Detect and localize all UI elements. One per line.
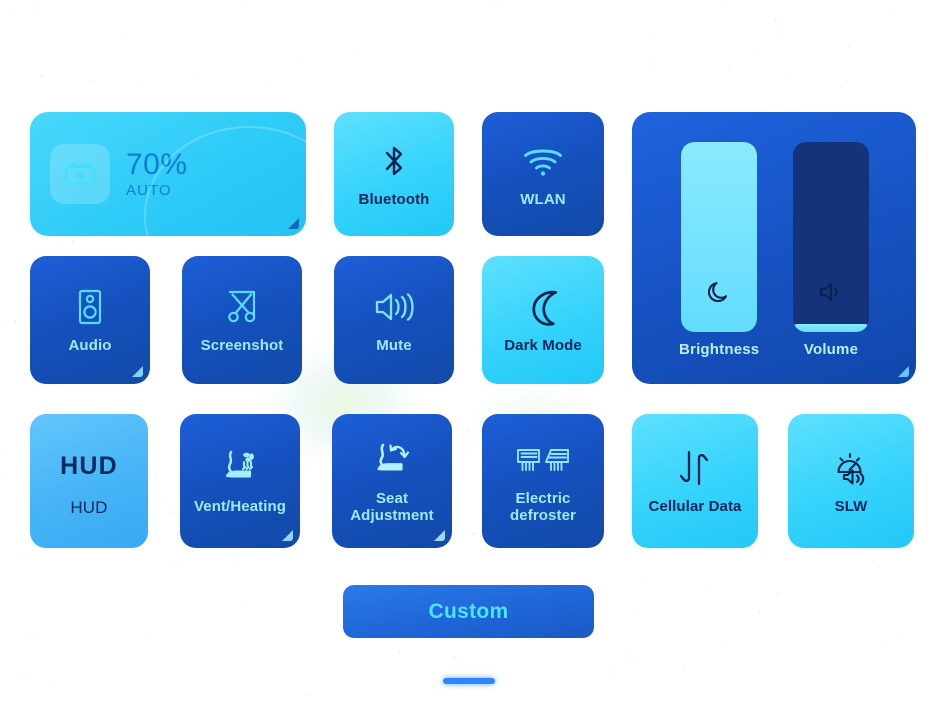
seat-adjustment-tile[interactable]: Seat Adjustment xyxy=(332,414,452,548)
screenshot-tile[interactable]: Screenshot xyxy=(182,256,302,384)
dark-mode-tile[interactable]: Dark Mode xyxy=(482,256,604,384)
home-indicator[interactable] xyxy=(443,678,495,684)
speaker-icon xyxy=(817,278,845,306)
custom-button[interactable]: Custom xyxy=(343,585,594,638)
volume-slider-track[interactable] xyxy=(793,142,869,332)
cellular-data-tile[interactable]: Cellular Data xyxy=(632,414,758,548)
brand-tagline: MOTOR GROUP xyxy=(741,661,890,675)
expand-corner-icon[interactable] xyxy=(282,530,293,541)
bluetooth-label: Bluetooth xyxy=(359,192,430,209)
cellular-data-label: Cellular Data xyxy=(649,499,742,516)
mute-tile[interactable]: Mute xyxy=(334,256,454,384)
car-battery-charging-icon xyxy=(63,160,97,188)
audio-tile[interactable]: Audio xyxy=(30,256,150,384)
scissors-frame-icon xyxy=(224,285,260,329)
battery-readout: 70% AUTO xyxy=(126,149,188,200)
wifi-icon xyxy=(522,139,564,183)
speaker-box-icon xyxy=(75,285,105,329)
slw-tile[interactable]: SLW xyxy=(788,414,914,548)
bluetooth-icon xyxy=(380,139,408,183)
slw-label: SLW xyxy=(835,499,868,516)
battery-percent: 70% xyxy=(126,149,188,181)
electric-defroster-label: Electric defroster xyxy=(510,491,576,525)
dark-mode-label: Dark Mode xyxy=(504,338,582,355)
quick-settings-screen: 70% AUTO Bluetooth WLAN xyxy=(0,0,938,704)
moon-icon xyxy=(705,278,733,306)
data-transfer-arrows-icon xyxy=(677,446,713,490)
slider-panel: Brightness Volume xyxy=(632,112,916,384)
volume-slider[interactable]: Volume xyxy=(793,142,869,358)
brightness-label: Brightness xyxy=(679,341,759,358)
expand-corner-icon[interactable] xyxy=(288,218,299,229)
hud-label: HUD xyxy=(70,498,107,517)
wlan-label: WLAN xyxy=(520,192,565,209)
speed-limit-warning-icon xyxy=(830,446,872,490)
vent-heating-label: Vent/Heating xyxy=(194,499,286,516)
hud-tile[interactable]: HUD HUD xyxy=(30,414,148,548)
seat-adjust-icon xyxy=(370,438,414,482)
bluetooth-tile[interactable]: Bluetooth xyxy=(334,112,454,236)
brightness-slider[interactable]: Brightness xyxy=(679,142,759,358)
hud-glyph: HUD xyxy=(60,452,118,481)
brand-logo: KEARYS MOTOR GROUP xyxy=(718,620,892,675)
audio-label: Audio xyxy=(69,338,112,355)
battery-mode: AUTO xyxy=(126,182,188,199)
electric-defroster-tile[interactable]: Electric defroster xyxy=(482,414,604,548)
expand-corner-icon[interactable] xyxy=(434,530,445,541)
seat-vent-heat-icon xyxy=(218,446,262,490)
battery-tile[interactable]: 70% AUTO xyxy=(30,112,306,236)
volume-waves-icon xyxy=(373,285,415,329)
screenshot-label: Screenshot xyxy=(201,338,284,355)
brightness-slider-track[interactable] xyxy=(681,142,757,332)
custom-button-label: Custom xyxy=(429,600,509,624)
volume-label: Volume xyxy=(804,341,858,358)
volume-slider-fill xyxy=(793,324,869,332)
brand-name: KEARYS xyxy=(714,620,895,658)
vent-heating-tile[interactable]: Vent/Heating xyxy=(180,414,300,548)
dual-defroster-icon xyxy=(515,438,571,482)
mute-label: Mute xyxy=(376,338,411,355)
crescent-moon-icon xyxy=(524,285,562,329)
expand-corner-icon[interactable] xyxy=(898,366,909,377)
expand-corner-icon[interactable] xyxy=(132,366,143,377)
seat-adjustment-label: Seat Adjustment xyxy=(350,491,434,525)
hud-text-icon: HUD xyxy=(60,445,118,489)
battery-icon-chip xyxy=(50,144,110,204)
wlan-tile[interactable]: WLAN xyxy=(482,112,604,236)
